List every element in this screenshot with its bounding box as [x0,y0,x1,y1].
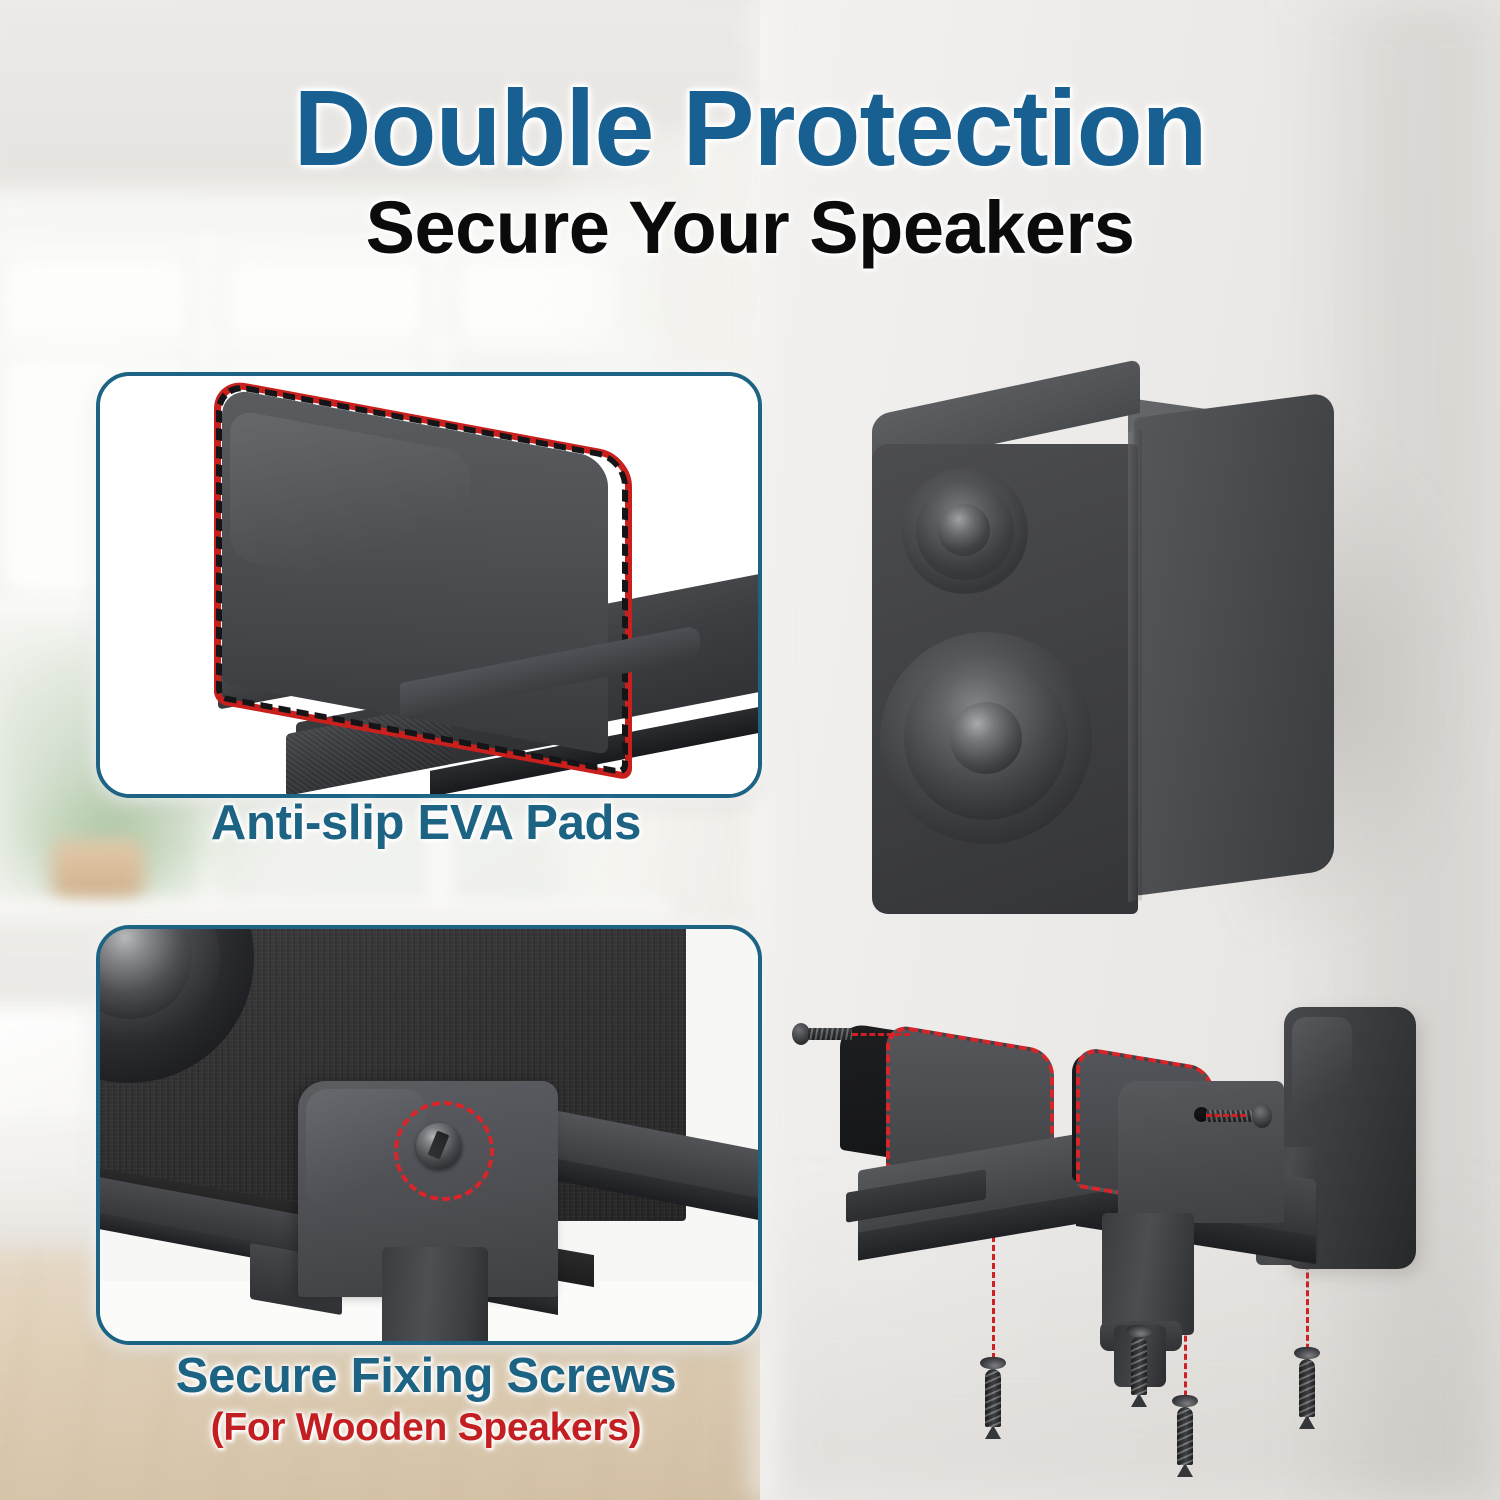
wood-screw [980,1357,1006,1439]
headline-block: Double Protection Secure Your Speakers [0,72,1500,267]
caption-fixing-screws: Secure Fixing Screws (For Wooden Speaker… [96,1348,756,1450]
pad-fixing-screw-left [792,1021,856,1047]
caption-eva-pads: Anti-slip EVA Pads [96,795,756,851]
caption-eva-main: Anti-slip EVA Pads [96,795,756,851]
wall-mount-exploded-view [786,995,1426,1495]
eva-pad-illustration [100,376,758,794]
wood-screw [1294,1347,1320,1429]
feature-panel-eva-pads [96,372,762,798]
caption-screw-sub: (For Wooden Speakers) [96,1406,756,1450]
product-infographic: Double Protection Secure Your Speakers A… [0,0,1500,1500]
feature-panel-fixing-screws [96,925,762,1345]
wood-screw [1172,1395,1198,1477]
wood-screw [1126,1325,1152,1407]
page-title: Double Protection [0,72,1500,183]
page-subtitle: Secure Your Speakers [0,189,1500,267]
hero-speaker [866,392,1336,932]
fixing-screw-illustration [100,929,758,1341]
caption-screw-main: Secure Fixing Screws [96,1348,756,1404]
